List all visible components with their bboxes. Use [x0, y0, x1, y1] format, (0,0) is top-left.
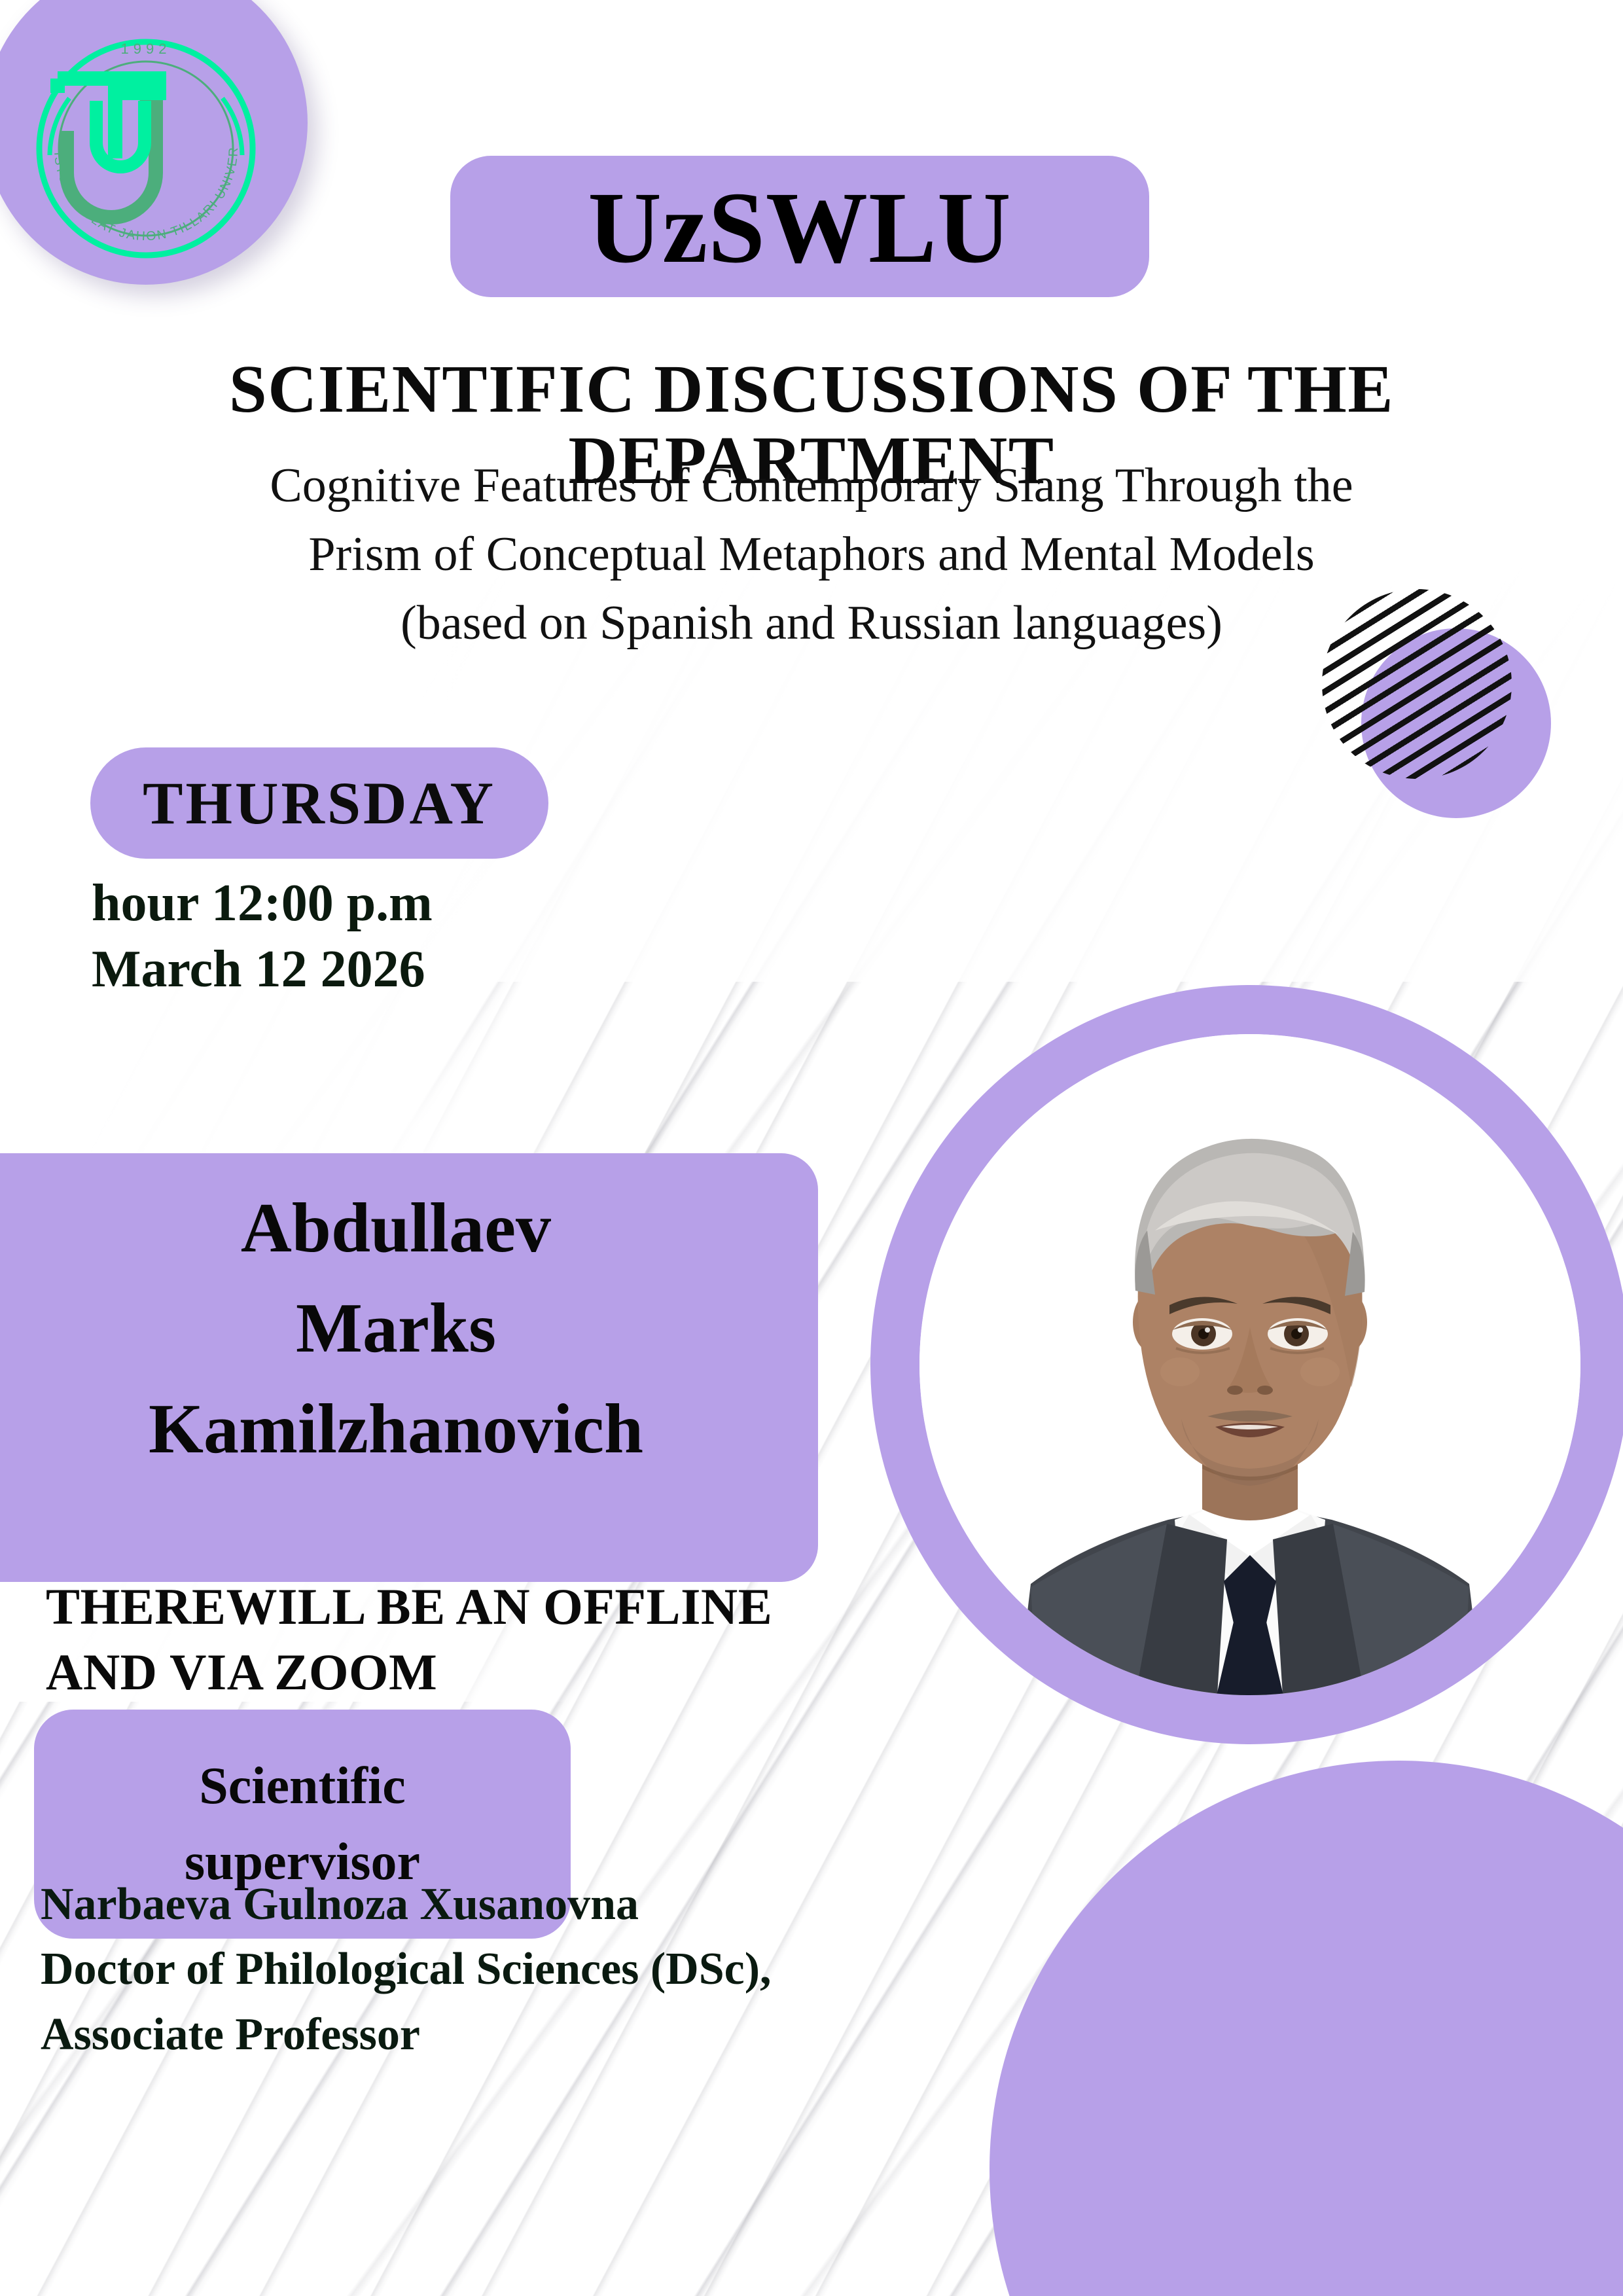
- poster-canvas: 1992 O'ZBEKISTON DAVLAT JAHON TILLARI UN…: [0, 0, 1623, 2296]
- attendance-notice-line-2: AND VIA ZOOM: [46, 1640, 772, 1705]
- subtitle-line-3: (based on Spanish and Russian languages): [196, 589, 1427, 658]
- weekday-badge-label: THURSDAY: [90, 747, 548, 859]
- svg-text:1992: 1992: [121, 41, 171, 57]
- supervisor-rank: Associate Professor: [41, 2002, 772, 2067]
- speaker-avatar: [919, 1034, 1580, 1695]
- presentation-subtitle: Cognitive Features of Contemporary Slang…: [196, 452, 1427, 658]
- speaker-surname: Abdullaev: [0, 1178, 792, 1278]
- event-datetime: hour 12:00 p.m March 12 2026: [92, 870, 433, 1003]
- university-acronym-text: UzSWLU: [450, 164, 1149, 292]
- speaker-first-name: Marks: [0, 1278, 792, 1378]
- supervisor-degree: Doctor of Philological Sciences (DSc),: [41, 1937, 772, 2001]
- event-time: hour 12:00 p.m: [92, 870, 433, 937]
- speaker-patronymic: Kamilzhanovich: [0, 1379, 792, 1479]
- supervisor-label-line-1: Scientific: [199, 1748, 405, 1824]
- attendance-notice: THEREWILL BE AN OFFLINE AND VIA ZOOM: [46, 1574, 772, 1705]
- subtitle-line-2: Prism of Conceptual Metaphors and Mental…: [196, 520, 1427, 589]
- event-date: March 12 2026: [92, 937, 433, 1003]
- attendance-notice-line-1: THEREWILL BE AN OFFLINE: [46, 1574, 772, 1640]
- subtitle-line-1: Cognitive Features of Contemporary Slang…: [196, 452, 1427, 520]
- supervisor-details: Narbaeva Gulnoza Xusanovna Doctor of Phi…: [41, 1872, 772, 2067]
- supervisor-name: Narbaeva Gulnoza Xusanovna: [41, 1872, 772, 1937]
- corner-decorative-circle: [990, 1761, 1623, 2296]
- speaker-portrait-illustration: [919, 1034, 1580, 1695]
- speaker-name: Abdullaev Marks Kamilzhanovich: [0, 1178, 792, 1479]
- university-logo-seal: 1992 O'ZBEKISTON DAVLAT JAHON TILLARI UN…: [18, 21, 274, 276]
